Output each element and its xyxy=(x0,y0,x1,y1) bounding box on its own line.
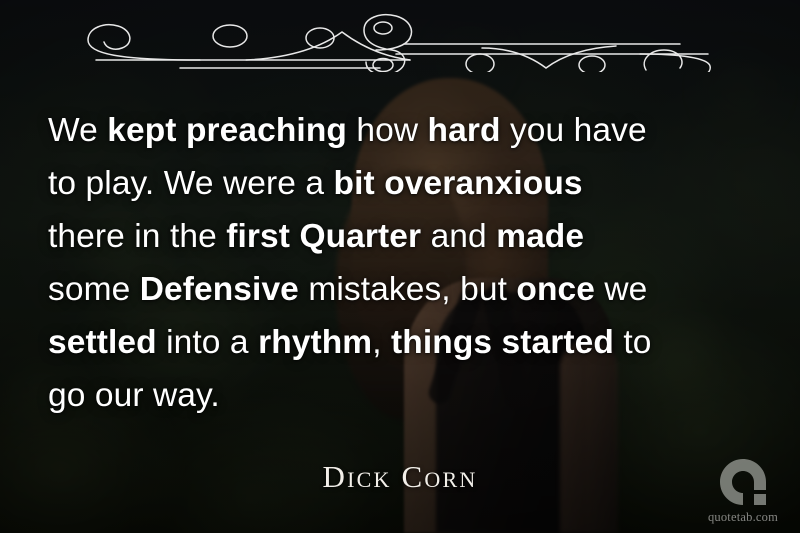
quote-word: there in the xyxy=(48,218,226,255)
quote-keyword: kept xyxy=(107,112,176,149)
quote-keyword: overanxious xyxy=(384,165,582,202)
quote-word: you have xyxy=(501,112,647,149)
watermark-text: quotetab.com xyxy=(700,510,786,525)
quote-word: into a xyxy=(157,324,258,361)
quotetab-q-logo-icon xyxy=(717,456,769,508)
quote-word: some xyxy=(48,271,140,308)
quote-keyword: hard xyxy=(428,112,501,149)
quote-text: We kept preaching how hard you haveto pl… xyxy=(48,104,756,422)
quote-keyword: things xyxy=(391,324,492,361)
quote-line: go our way. xyxy=(48,369,756,422)
flourish-ornament-icon xyxy=(80,8,720,72)
quote-keyword: Quarter xyxy=(299,218,421,255)
watermark[interactable]: quotetab.com xyxy=(700,456,786,525)
quote-word: mistakes, but xyxy=(299,271,516,308)
quote-author: Dick Corn xyxy=(0,459,800,495)
quote-word: how xyxy=(347,112,428,149)
quote-word: and xyxy=(421,218,496,255)
quote-keyword: Defensive xyxy=(140,271,299,308)
quote-keyword: settled xyxy=(48,324,157,361)
quote-word xyxy=(492,324,501,361)
quote-keyword: bit xyxy=(334,165,375,202)
quote-keyword: started xyxy=(502,324,614,361)
quote-line: We kept preaching how hard you have xyxy=(48,104,756,157)
quote-keyword: rhythm xyxy=(258,324,372,361)
quote-keyword: preaching xyxy=(186,112,347,149)
quote-line: to play. We were a bit overanxious xyxy=(48,157,756,210)
quote-word xyxy=(375,165,384,202)
quote-word: We xyxy=(48,112,107,149)
quote-keyword: once xyxy=(516,271,595,308)
quote-keyword: first xyxy=(226,218,290,255)
quote-word xyxy=(177,112,186,149)
quote-word: to xyxy=(614,324,652,361)
quote-word: to play. We were a xyxy=(48,165,334,202)
quote-word: , xyxy=(372,324,391,361)
quote-keyword: made xyxy=(496,218,584,255)
quote-line: settled into a rhythm, things started to xyxy=(48,316,756,369)
quote-line: some Defensive mistakes, but once we xyxy=(48,263,756,316)
quote-word: go our way. xyxy=(48,377,220,414)
card-content: We kept preaching how hard you haveto pl… xyxy=(0,0,800,533)
quote-word: we xyxy=(595,271,647,308)
quote-line: there in the first Quarter and made xyxy=(48,210,756,263)
quote-image-card: We kept preaching how hard you haveto pl… xyxy=(0,0,800,533)
